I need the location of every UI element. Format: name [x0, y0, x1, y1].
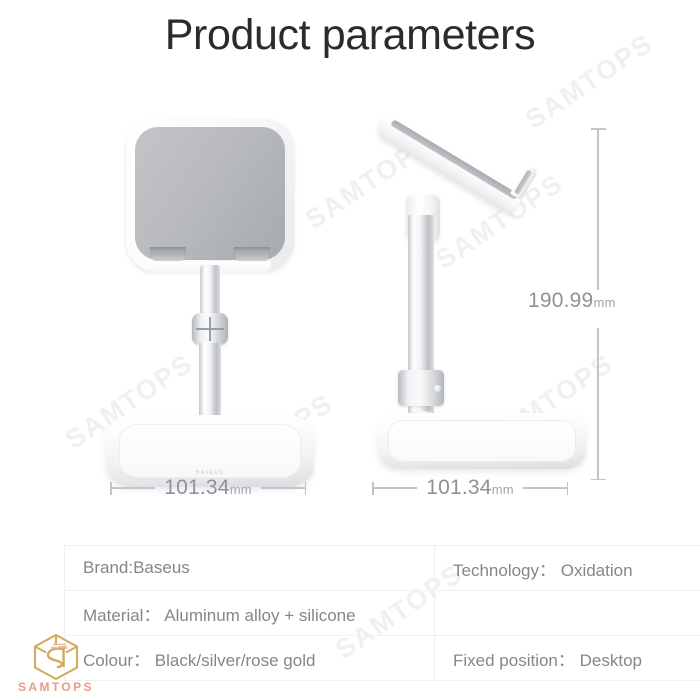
- stand-base-plate-side: [378, 413, 586, 469]
- dimension-height-value: 190.99: [528, 289, 593, 312]
- spec-cell-fixed-position: Fixed position： Desktop: [435, 636, 700, 681]
- cradle-groove: [390, 119, 519, 200]
- table-row: Material： Aluminum alloy + silicone: [65, 591, 700, 636]
- dimension-front-width: 101.34mm: [110, 477, 306, 499]
- collar-knob: [434, 385, 441, 392]
- dimension-height-upper: [585, 128, 611, 290]
- stand-base-inset-side: [388, 420, 576, 462]
- dimension-rule: [374, 487, 418, 489]
- phone-cradle-plate: [126, 119, 294, 271]
- table-row: Colour： Black/silver/rose gold Fixed pos…: [65, 636, 700, 681]
- stand-lower-pole: [199, 343, 221, 425]
- dimension-front-width-value: 101.34: [164, 476, 229, 499]
- spec-cell-empty: [435, 591, 700, 636]
- dimension-rule: [523, 487, 567, 489]
- dimension-cap-icon: [305, 482, 307, 495]
- dimension-height-lower: [585, 328, 611, 480]
- samtops-box-icon: [10, 632, 102, 680]
- dimension-rule: [112, 487, 156, 489]
- dimension-side-width-value: 101.34: [426, 476, 491, 499]
- product-front-view: BASEUS: [96, 95, 326, 495]
- spec-cell-material: Material： Aluminum alloy + silicone: [65, 591, 435, 636]
- dimension-front-width-unit: mm: [230, 482, 252, 497]
- dimension-side-width-label: 101.34mm: [417, 476, 523, 500]
- dimension-front-width-label: 101.34mm: [155, 476, 261, 500]
- stand-upper-pole: [200, 265, 220, 315]
- stand-adjust-collar-side: [398, 370, 444, 406]
- spec-cell-colour: Colour： Black/silver/rose gold: [65, 636, 435, 681]
- phone-cradle-face: [135, 127, 285, 260]
- dimension-side-width: 101.34mm: [372, 477, 568, 499]
- dimension-height-label: 190.99mm: [528, 289, 616, 313]
- dimension-cap-icon: [567, 482, 569, 495]
- samtops-wordmark: SAMTOPS: [10, 680, 102, 694]
- dimension-side-width-unit: mm: [492, 482, 514, 497]
- dimension-rule: [261, 487, 305, 489]
- spec-cell-brand: Brand:Baseus: [65, 546, 435, 591]
- spec-table: Brand:Baseus Technology： Oxidation Mater…: [64, 545, 700, 681]
- cradle-lip-left: [150, 247, 186, 262]
- spec-cell-technology: Technology： Oxidation: [435, 546, 700, 591]
- dimension-height-unit: mm: [593, 295, 615, 310]
- samtops-logo: SAMTOPS: [10, 632, 108, 694]
- stand-adjust-collar: [192, 313, 228, 345]
- dimension-rule: [597, 130, 599, 291]
- dimension-cap-icon: [591, 479, 606, 481]
- page-title: Product parameters: [0, 11, 700, 60]
- dimension-rule: [597, 328, 599, 479]
- table-row: Brand:Baseus Technology： Oxidation: [65, 546, 700, 591]
- cradle-lip-right: [234, 247, 270, 262]
